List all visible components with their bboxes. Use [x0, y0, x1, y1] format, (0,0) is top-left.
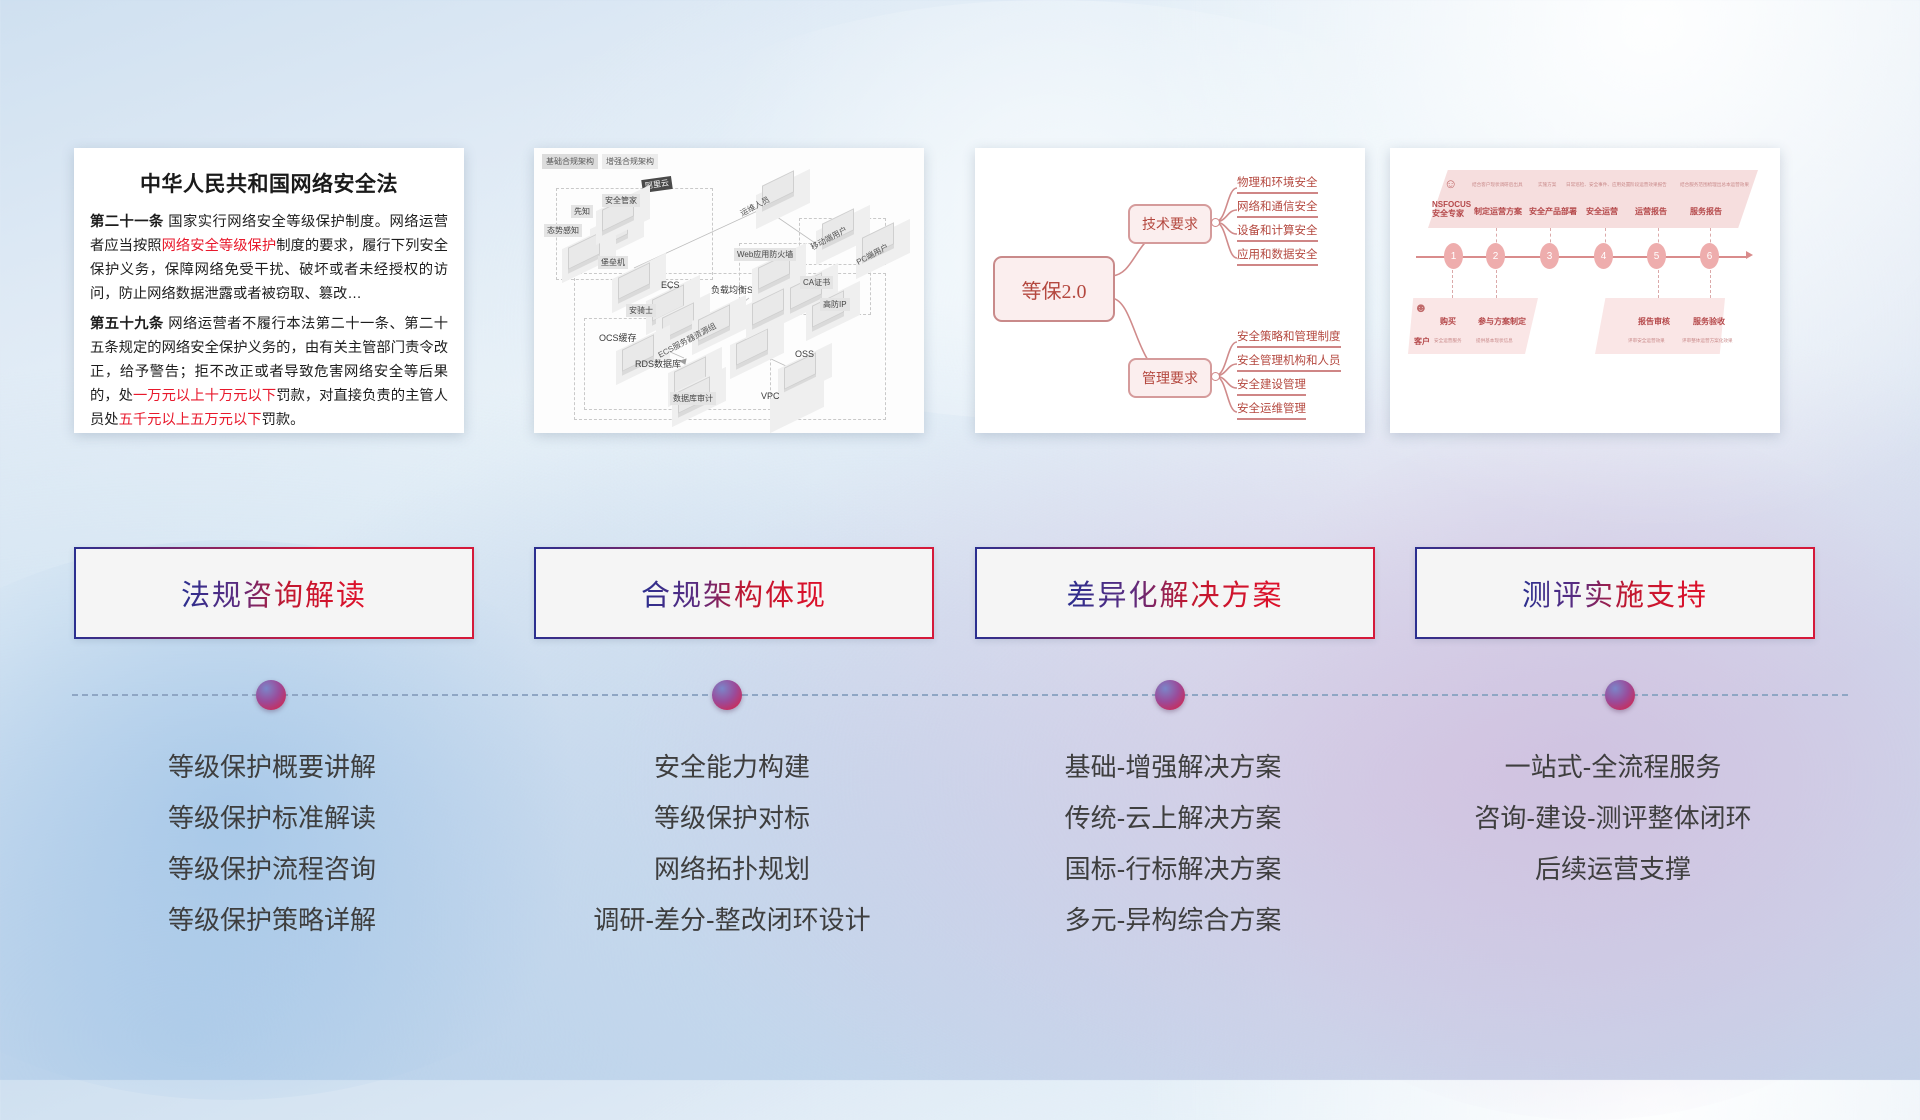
top-step-4-title: 运营报告: [1635, 206, 1667, 217]
timeline-node-6[interactable]: 6: [1700, 243, 1719, 269]
law-article-59: 第五十九条 网络运营者不履行本法第二十一条、第二十五条规定的网络安全保护义务的，…: [90, 312, 448, 432]
mindmap-root: 等保2.0: [993, 256, 1115, 322]
bottom-step-4-sub: 评审整体运营方案化效果: [1682, 338, 1733, 344]
top-step-2-sub: 实施方案: [1538, 182, 1556, 188]
customer-avatar-icon: ☻: [1414, 300, 1428, 315]
expert-role-label: NSFOCUS安全专家: [1432, 200, 1471, 218]
customer-role-label: 客户: [1414, 336, 1430, 347]
law-article-21: 第二十一条 国家实行网络安全等级保护制度。网络运营者应当按照网络安全等级保护制度…: [90, 210, 448, 306]
article-59-label: 第五十九条: [90, 316, 164, 332]
list-item: 等级保护策略详解: [74, 895, 470, 946]
article-59-penalty-2: 五千元以上五万元以下: [119, 412, 262, 428]
label-anqishi: 安骑士: [626, 304, 656, 317]
card-cybersecurity-law: 中华人民共和国网络安全法 第二十一条 国家实行网络安全等级保护制度。网络运营者应…: [74, 148, 464, 433]
timeline-node-5[interactable]: 5: [1647, 243, 1666, 269]
label-db-audit: 数据库审计: [670, 392, 716, 405]
card-service-timeline: ☺ NSFOCUS安全专家 结合客户现状调研后出具 制定运营方案 实施方案 安全…: [1390, 148, 1780, 433]
label-bastion-host: 堡垒机: [598, 256, 628, 269]
mindmap-leaf-physical: 物理和环境安全: [1237, 174, 1318, 194]
bottom-step-4-title: 服务验收: [1693, 316, 1725, 327]
mindmap-leaf-operation: 安全运维管理: [1237, 400, 1306, 420]
headline-box-2[interactable]: 合规架构体现: [534, 547, 934, 639]
mindmap-leaf-policy: 安全策略和管理制度: [1237, 328, 1341, 348]
top-step-3-sub: 日常巡检、安全事件、应用处置: [1566, 182, 1630, 188]
timeline-band-expert: [1428, 170, 1758, 228]
timeline-axis: [1416, 256, 1746, 258]
list-item: 后续运营支撑: [1415, 844, 1811, 895]
top-step-1-title: 制定运营方案: [1474, 206, 1522, 217]
timeline-rail: [72, 694, 1848, 698]
card-cloud-architecture: 基础合规架构 增强合规架构: [534, 148, 924, 433]
timeline-node-3[interactable]: 3: [1540, 243, 1559, 269]
label-security-steward: 安全管家: [602, 194, 640, 207]
mindmap-leaf-device: 设备和计算安全: [1237, 222, 1318, 242]
mindmap-diagram: 等保2.0 技术要求 物理和环境安全 网络和通信安全 设备和计算安全 应用和数据…: [975, 148, 1365, 433]
feature-list-3: 基础-增强解决方案 传统-云上解决方案 国标-行标解决方案 多元-异构综合方案: [975, 742, 1371, 946]
rail-node-1[interactable]: [256, 680, 286, 710]
bottom-step-2-sub: 提供基本现状信息: [1476, 338, 1513, 344]
mindmap-branch-technical: 技术要求: [1128, 204, 1212, 244]
top-step-5-sub: 结合服务范围梳理出总本运营效果: [1680, 182, 1749, 188]
mindmap-collapse-icon-management[interactable]: [1211, 372, 1220, 381]
article-21-highlight: 网络安全等级保护: [162, 238, 277, 254]
label-ecs: ECS: [658, 279, 683, 291]
top-step-5-title: 服务报告: [1690, 206, 1722, 217]
top-step-2-title: 安全产品部署: [1529, 206, 1577, 217]
list-item: 安全能力构建: [534, 742, 930, 793]
list-item: 等级保护对标: [534, 793, 930, 844]
headline-box-1[interactable]: 法规咨询解读: [74, 547, 474, 639]
label-vpc: VPC: [758, 390, 783, 402]
feature-list-1: 等级保护概要讲解 等级保护标准解读 等级保护流程咨询 等级保护策略详解: [74, 742, 470, 946]
label-oss: OSS: [792, 348, 817, 360]
list-item: 等级保护流程咨询: [74, 844, 470, 895]
mindmap-leaf-network: 网络和通信安全: [1237, 198, 1318, 218]
article-59-text-c: 罚款。: [262, 412, 305, 428]
list-item: 多元-异构综合方案: [975, 895, 1371, 946]
rail-node-4[interactable]: [1605, 680, 1635, 710]
top-step-3-title: 安全运营: [1586, 206, 1618, 217]
bottom-step-1-title: 购买: [1440, 316, 1456, 327]
top-step-1-sub: 结合客户现状调研后出具: [1472, 182, 1523, 188]
mindmap-branch-management: 管理要求: [1128, 358, 1212, 398]
expert-avatar-icon: ☺: [1444, 176, 1457, 191]
mindmap-leaf-construction: 安全建设管理: [1237, 376, 1306, 396]
feature-list-4: 一站式-全流程服务 咨询-建设-测评整体闭环 后续运营支撑: [1415, 742, 1811, 895]
label-anti-ddos: 高防IP: [820, 298, 850, 311]
law-title: 中华人民共和国网络安全法: [90, 168, 448, 198]
list-item: 等级保护标准解读: [74, 793, 470, 844]
list-item: 基础-增强解决方案: [975, 742, 1371, 793]
bottom-step-1-sub: 安全运营服务: [1434, 338, 1462, 344]
headline-label-4: 测评实施支持: [1522, 572, 1708, 614]
label-xianzhi: 先知: [571, 205, 593, 218]
list-item: 网络拓扑规划: [534, 844, 930, 895]
architecture-diagram: 基础合规架构 增强合规架构: [534, 148, 924, 433]
timeline-node-4[interactable]: 4: [1594, 243, 1613, 269]
article-21-label: 第二十一条: [90, 214, 164, 230]
timeline-arrow-icon: [1746, 251, 1753, 259]
list-item: 调研-差分-整改闭环设计: [534, 895, 930, 946]
list-item: 咨询-建设-测评整体闭环: [1415, 793, 1811, 844]
service-timeline-diagram: ☺ NSFOCUS安全专家 结合客户现状调研后出具 制定运营方案 实施方案 安全…: [1390, 148, 1780, 433]
mindmap-collapse-icon-technical[interactable]: [1211, 218, 1220, 227]
label-waf: Web应用防火墙: [734, 248, 796, 261]
list-item: 国标-行标解决方案: [975, 844, 1371, 895]
headline-label-2: 合规架构体现: [641, 572, 827, 614]
top-step-4-sub: 阶段运营效果报告: [1630, 182, 1667, 188]
article-59-penalty-1: 一万元以上十万元以下: [133, 388, 276, 404]
mindmap-leaf-org: 安全管理机构和人员: [1237, 352, 1341, 372]
mindmap-leaf-application: 应用和数据安全: [1237, 246, 1318, 266]
card-mindmap-dengbao: 等保2.0 技术要求 物理和环境安全 网络和通信安全 设备和计算安全 应用和数据…: [975, 148, 1365, 433]
headline-box-3[interactable]: 差异化解决方案: [975, 547, 1375, 639]
image-card-row: 中华人民共和国网络安全法 第二十一条 国家实行网络安全等级保护制度。网络运营者应…: [0, 0, 1920, 460]
rail-node-2[interactable]: [712, 680, 742, 710]
headline-label-3: 差异化解决方案: [1066, 572, 1283, 614]
timeline-node-2[interactable]: 2: [1486, 243, 1505, 269]
list-item: 等级保护概要讲解: [74, 742, 470, 793]
headline-box-4[interactable]: 测评实施支持: [1415, 547, 1815, 639]
headline-label-1: 法规咨询解读: [181, 572, 367, 614]
label-situation-awareness: 态势感知: [544, 224, 582, 237]
list-item: 传统-云上解决方案: [975, 793, 1371, 844]
feature-list-2: 安全能力构建 等级保护对标 网络拓扑规划 调研-差分-整改闭环设计: [534, 742, 930, 946]
bottom-step-3-sub: 评审安全运营效果: [1628, 338, 1665, 344]
timeline-node-1[interactable]: 1: [1444, 243, 1463, 269]
law-document: 中华人民共和国网络安全法 第二十一条 国家实行网络安全等级保护制度。网络运营者应…: [74, 148, 464, 433]
label-ocs-cache: OCS缓存: [596, 330, 640, 345]
list-item: 一站式-全流程服务: [1415, 742, 1811, 793]
bottom-step-3-title: 报告审核: [1638, 316, 1670, 327]
rail-node-3[interactable]: [1155, 680, 1185, 710]
bottom-step-2-title: 参与方案制定: [1478, 316, 1526, 327]
label-ca: CA证书: [800, 276, 833, 289]
